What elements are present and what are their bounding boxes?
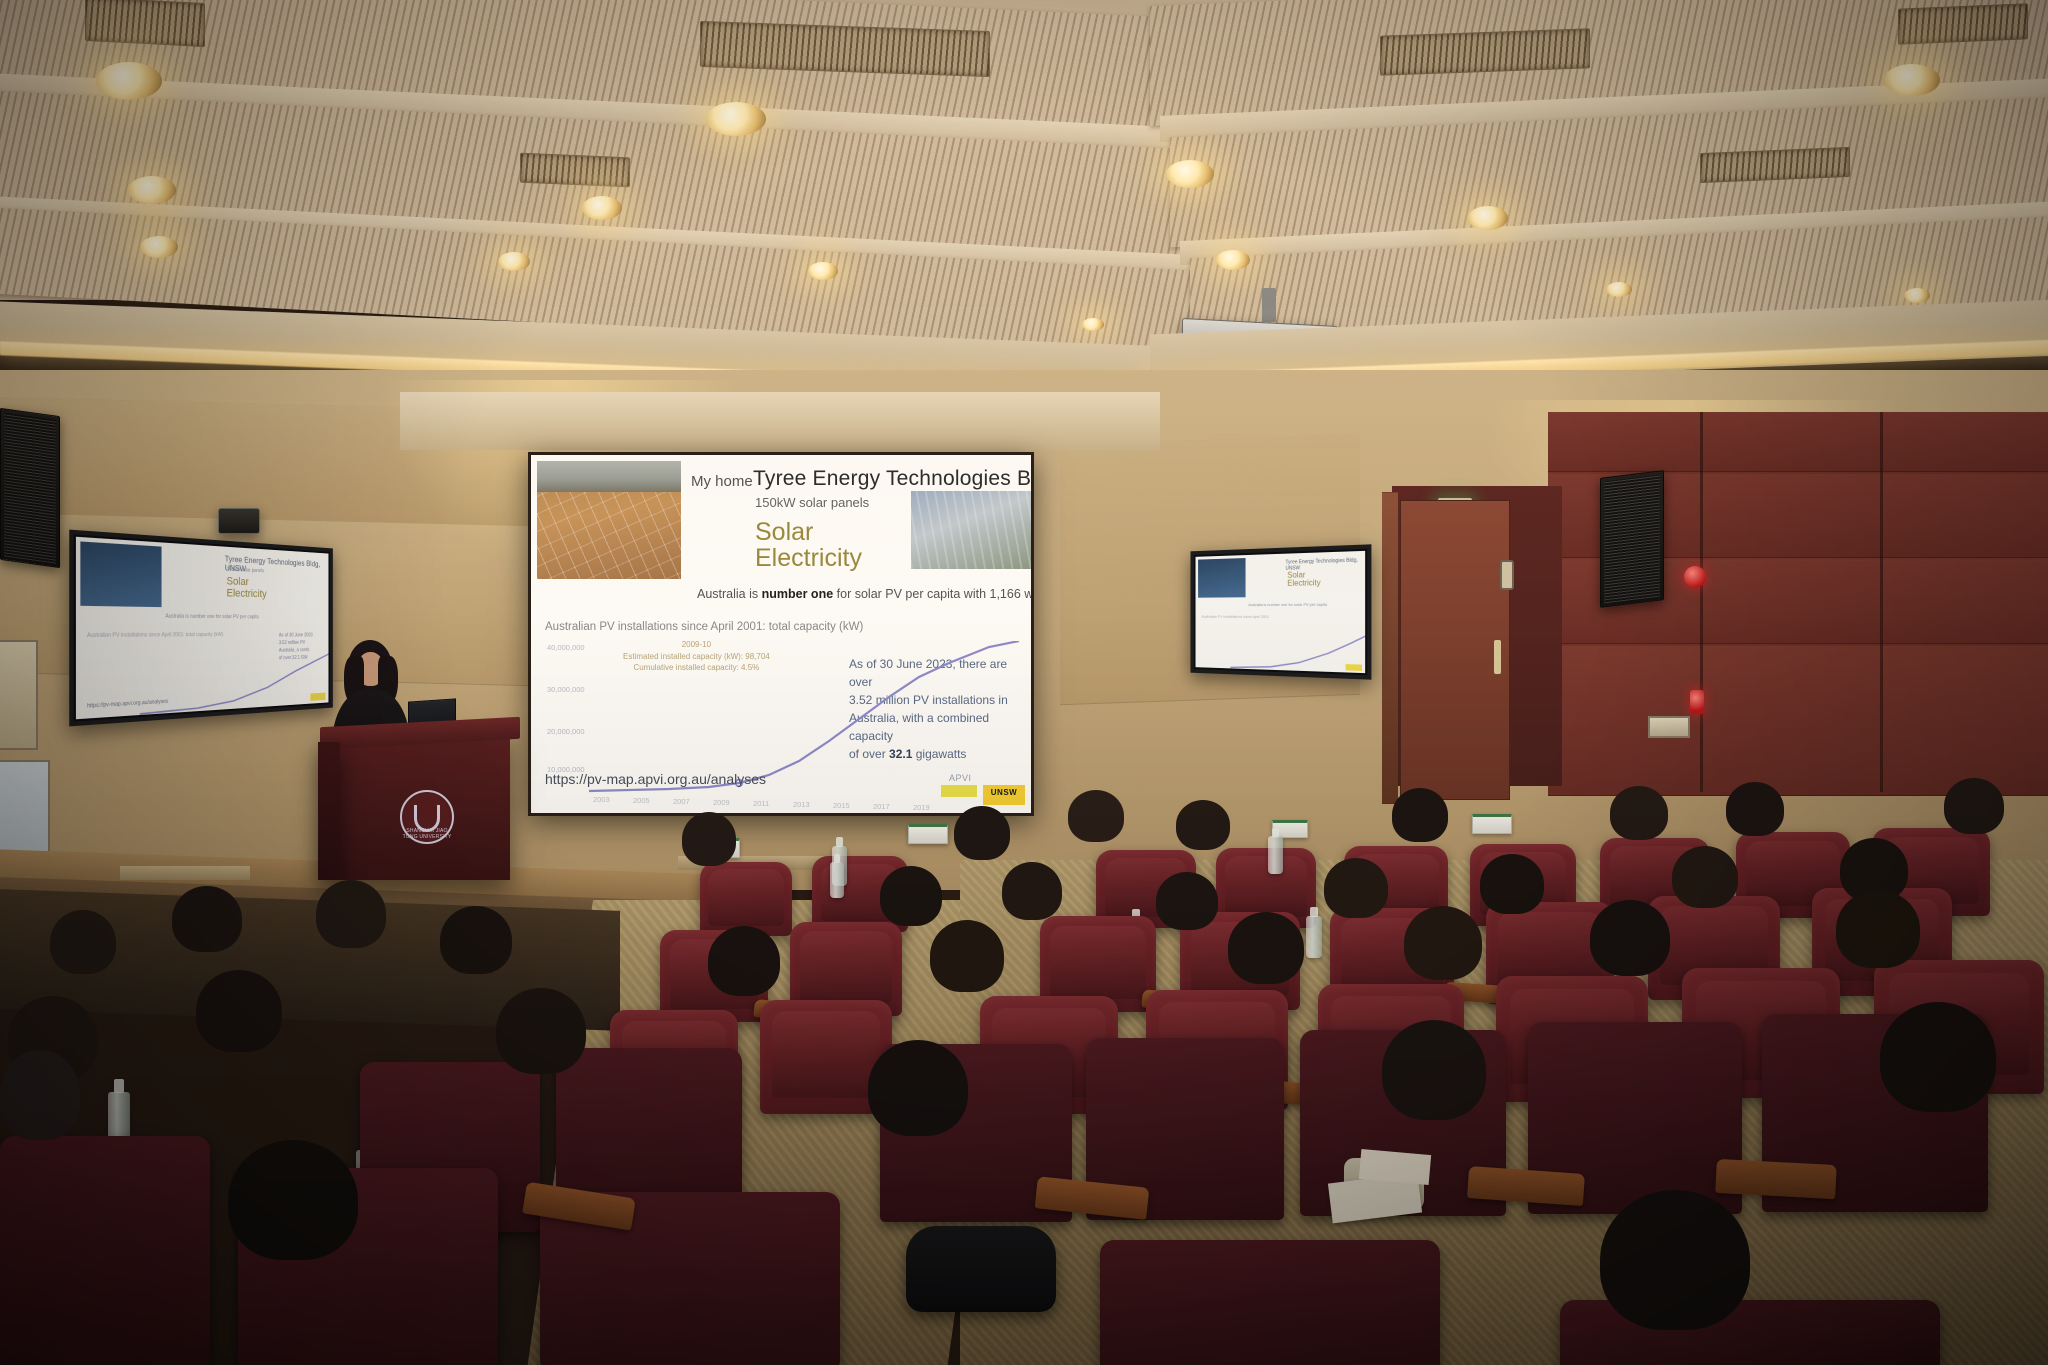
speaker-grill bbox=[4, 412, 56, 563]
wood-seam bbox=[1880, 412, 1883, 792]
slide-title: Tyree Energy Technologies Bldg, UNSW – m… bbox=[753, 467, 1031, 491]
ceiling-camera bbox=[218, 508, 260, 534]
audience-head bbox=[1068, 790, 1124, 842]
ceiling-downlight bbox=[1904, 288, 1930, 303]
audience-head bbox=[316, 880, 386, 948]
bag-on-floor bbox=[906, 1226, 1056, 1312]
audience-head bbox=[196, 970, 282, 1052]
fire-alarm-icon bbox=[1690, 690, 1704, 714]
audience-head bbox=[1672, 846, 1738, 908]
hvac-vent bbox=[1380, 28, 1590, 75]
chart-xtick: 2013 bbox=[793, 800, 810, 809]
audience-head bbox=[708, 926, 780, 996]
hvac-vent bbox=[1898, 3, 2028, 44]
audience-head bbox=[1726, 782, 1784, 836]
ceiling-downlight bbox=[808, 262, 838, 280]
water-bottle bbox=[830, 862, 844, 898]
wall-clock bbox=[1500, 560, 1514, 590]
chart-xtick: 2015 bbox=[833, 801, 850, 810]
wall-speaker-left bbox=[0, 408, 60, 568]
slide-title-main: Tyree Energy Technologies Bldg, UNSW bbox=[753, 467, 1031, 490]
audience-head bbox=[682, 812, 736, 866]
audience-head bbox=[1590, 900, 1670, 976]
audience-head bbox=[1610, 786, 1668, 840]
ceiling-downlight bbox=[1166, 160, 1214, 188]
wood-plank bbox=[1548, 412, 2048, 472]
fire-alarm-icon bbox=[1684, 566, 1706, 588]
slide-headline: Solar Electricity bbox=[755, 519, 862, 571]
audience-head bbox=[1392, 788, 1448, 842]
slide-claim-suffix: for solar PV per capita with 1,166 watt/… bbox=[837, 587, 1031, 601]
audience-head bbox=[930, 920, 1004, 992]
slide-claim-bold: number one bbox=[762, 587, 834, 601]
slide-claim: Australia is number one for solar PV per… bbox=[697, 587, 1031, 601]
water-bottle bbox=[1268, 836, 1283, 874]
crest-text: SHANGHAI JIAO TONG UNIVERSITY bbox=[402, 828, 452, 840]
door-handle[interactable] bbox=[1494, 640, 1501, 674]
ceiling-downlight bbox=[96, 62, 162, 100]
audience-head bbox=[496, 988, 586, 1074]
audience-head bbox=[0, 1050, 80, 1140]
audience-head bbox=[1176, 800, 1230, 850]
unsw-logo: UNSW bbox=[983, 785, 1025, 805]
name-placard bbox=[908, 824, 948, 844]
audience-head bbox=[1880, 1002, 1996, 1112]
side-monitor-left: Tyree Energy Technologies Bldg, UNSW 150… bbox=[69, 530, 333, 727]
audience-head bbox=[954, 806, 1010, 860]
university-crest: SHANGHAI JIAO TONG UNIVERSITY bbox=[400, 790, 454, 844]
slide-source-url[interactable]: https://pv-map.apvi.org.au/analyses bbox=[545, 771, 766, 787]
ceiling-downlight bbox=[128, 176, 176, 204]
slide-my-home-label: My home bbox=[691, 473, 753, 490]
lecture-hall-photo: EXIT My home Tyree Energy Technologies B… bbox=[0, 0, 2048, 1365]
ceiling-downlight bbox=[1884, 64, 1940, 96]
audience-head bbox=[1836, 890, 1920, 968]
slide-content: My home Tyree Energy Technologies Bldg, … bbox=[531, 455, 1031, 813]
ceiling-downlight bbox=[582, 196, 622, 220]
chart-ytick: 20,000,000 bbox=[547, 727, 585, 736]
seat-armrest bbox=[1715, 1159, 1837, 1199]
main-projection-screen: My home Tyree Energy Technologies Bldg, … bbox=[528, 452, 1034, 816]
side-window bbox=[0, 640, 38, 750]
audience-head bbox=[1404, 906, 1482, 980]
slide-photo-rooftop-panels bbox=[537, 461, 681, 579]
control-panel[interactable] bbox=[1648, 716, 1690, 738]
audience-head bbox=[440, 906, 512, 974]
hvac-vent bbox=[85, 0, 205, 47]
door-frame bbox=[1382, 492, 1398, 804]
chart-xtick: 2009 bbox=[713, 798, 730, 807]
audience-head bbox=[1156, 872, 1218, 930]
audience-head bbox=[868, 1040, 968, 1136]
front-table bbox=[120, 866, 250, 880]
audience-head bbox=[1600, 1190, 1750, 1330]
chart-ytick: 40,000,000 bbox=[547, 643, 585, 652]
chart-xtick: 2011 bbox=[753, 799, 769, 808]
wood-plank bbox=[1548, 646, 2048, 796]
podium-side bbox=[318, 742, 340, 880]
hvac-vent bbox=[520, 153, 630, 188]
audience-head bbox=[880, 866, 942, 926]
audience-head bbox=[1944, 778, 2004, 834]
paper-handout bbox=[1359, 1149, 1431, 1185]
apvi-logo: APVI bbox=[949, 773, 972, 783]
side-monitor-right: Tyree Energy Technologies Bldg, UNSW Sol… bbox=[1190, 544, 1371, 679]
audience-head bbox=[50, 910, 116, 974]
ceiling-downlight bbox=[140, 236, 178, 258]
ceiling-downlight bbox=[706, 102, 766, 136]
audience-head bbox=[228, 1140, 358, 1260]
speaker-grill bbox=[1604, 475, 1660, 604]
apvi-logo-mark bbox=[941, 785, 977, 797]
ceiling-downlight bbox=[498, 252, 530, 271]
chart-xtick: 2003 bbox=[593, 795, 610, 804]
wood-seam bbox=[1700, 412, 1703, 792]
seat bbox=[1100, 1240, 1440, 1365]
hvac-vent bbox=[1700, 147, 1850, 183]
audience-head bbox=[1324, 858, 1388, 918]
audience-head bbox=[1382, 1020, 1486, 1120]
audience-head bbox=[1480, 854, 1544, 914]
chart-ytick: 30,000,000 bbox=[547, 685, 585, 694]
seat bbox=[0, 1136, 210, 1365]
chart-xtick: 2017 bbox=[873, 802, 890, 811]
projector-mount bbox=[1262, 288, 1276, 322]
seat bbox=[700, 862, 792, 936]
slide-claim-prefix: Australia is bbox=[697, 587, 758, 601]
wall-speaker-right bbox=[1600, 470, 1664, 608]
ceiling-downlight bbox=[1216, 250, 1250, 270]
name-placard bbox=[1472, 814, 1512, 834]
ceiling-downlight bbox=[1606, 282, 1632, 297]
chart-xtick: 2019 bbox=[913, 803, 930, 812]
audience-head bbox=[1228, 912, 1304, 984]
ceiling-downlight bbox=[1082, 318, 1104, 331]
chart-title: Australian PV installations since April … bbox=[545, 621, 863, 633]
audience-head bbox=[172, 886, 242, 952]
water-bottle bbox=[1306, 916, 1322, 958]
chart-xtick: 2005 bbox=[633, 796, 650, 805]
slide-photo-building bbox=[911, 491, 1031, 569]
ceiling-downlight bbox=[1468, 206, 1508, 230]
monitor-slide-left: Tyree Energy Technologies Bldg, UNSW 150… bbox=[76, 537, 328, 720]
chart-xtick: 2007 bbox=[673, 797, 690, 806]
screen-soffit bbox=[400, 392, 1160, 450]
slide-subtitle: 150kW solar panels bbox=[755, 495, 869, 510]
audience-head bbox=[1002, 862, 1062, 920]
monitor-slide-right: Tyree Energy Technologies Bldg, UNSW Sol… bbox=[1196, 551, 1366, 673]
